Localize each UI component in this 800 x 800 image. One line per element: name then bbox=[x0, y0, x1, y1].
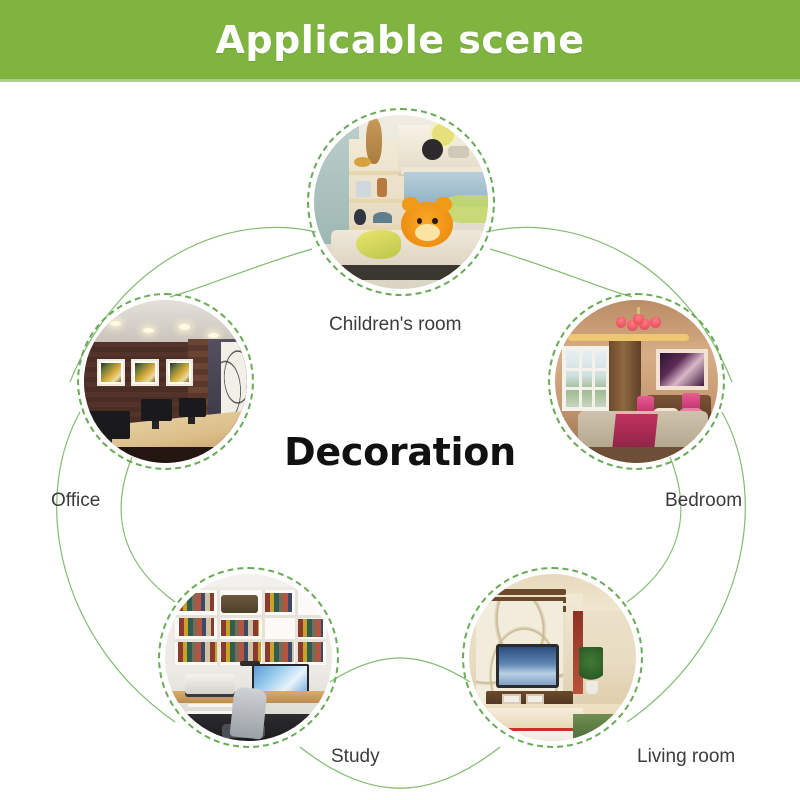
scene-node-study[interactable] bbox=[158, 567, 339, 748]
page-title: Applicable scene bbox=[216, 18, 585, 62]
dashed-ring-office bbox=[77, 293, 254, 470]
header-bar: Applicable scene bbox=[0, 0, 800, 79]
dashed-ring-children-room bbox=[307, 108, 495, 296]
scene-node-office[interactable] bbox=[77, 293, 254, 470]
dashed-ring-study bbox=[158, 567, 339, 748]
scene-label-bedroom: Bedroom bbox=[665, 490, 742, 512]
dashed-ring-bedroom bbox=[548, 293, 725, 470]
scene-node-children-room[interactable] bbox=[307, 108, 495, 296]
scene-label-children-room: Children's room bbox=[329, 314, 461, 336]
scene-node-bedroom[interactable] bbox=[548, 293, 725, 470]
scene-label-office: Office bbox=[51, 490, 100, 512]
scene-diagram: Decoration bbox=[0, 82, 800, 800]
dashed-ring-living-room bbox=[462, 567, 643, 748]
scene-label-living-room: Living room bbox=[637, 746, 735, 768]
scene-node-living-room[interactable] bbox=[462, 567, 643, 748]
scene-label-study: Study bbox=[331, 746, 380, 768]
